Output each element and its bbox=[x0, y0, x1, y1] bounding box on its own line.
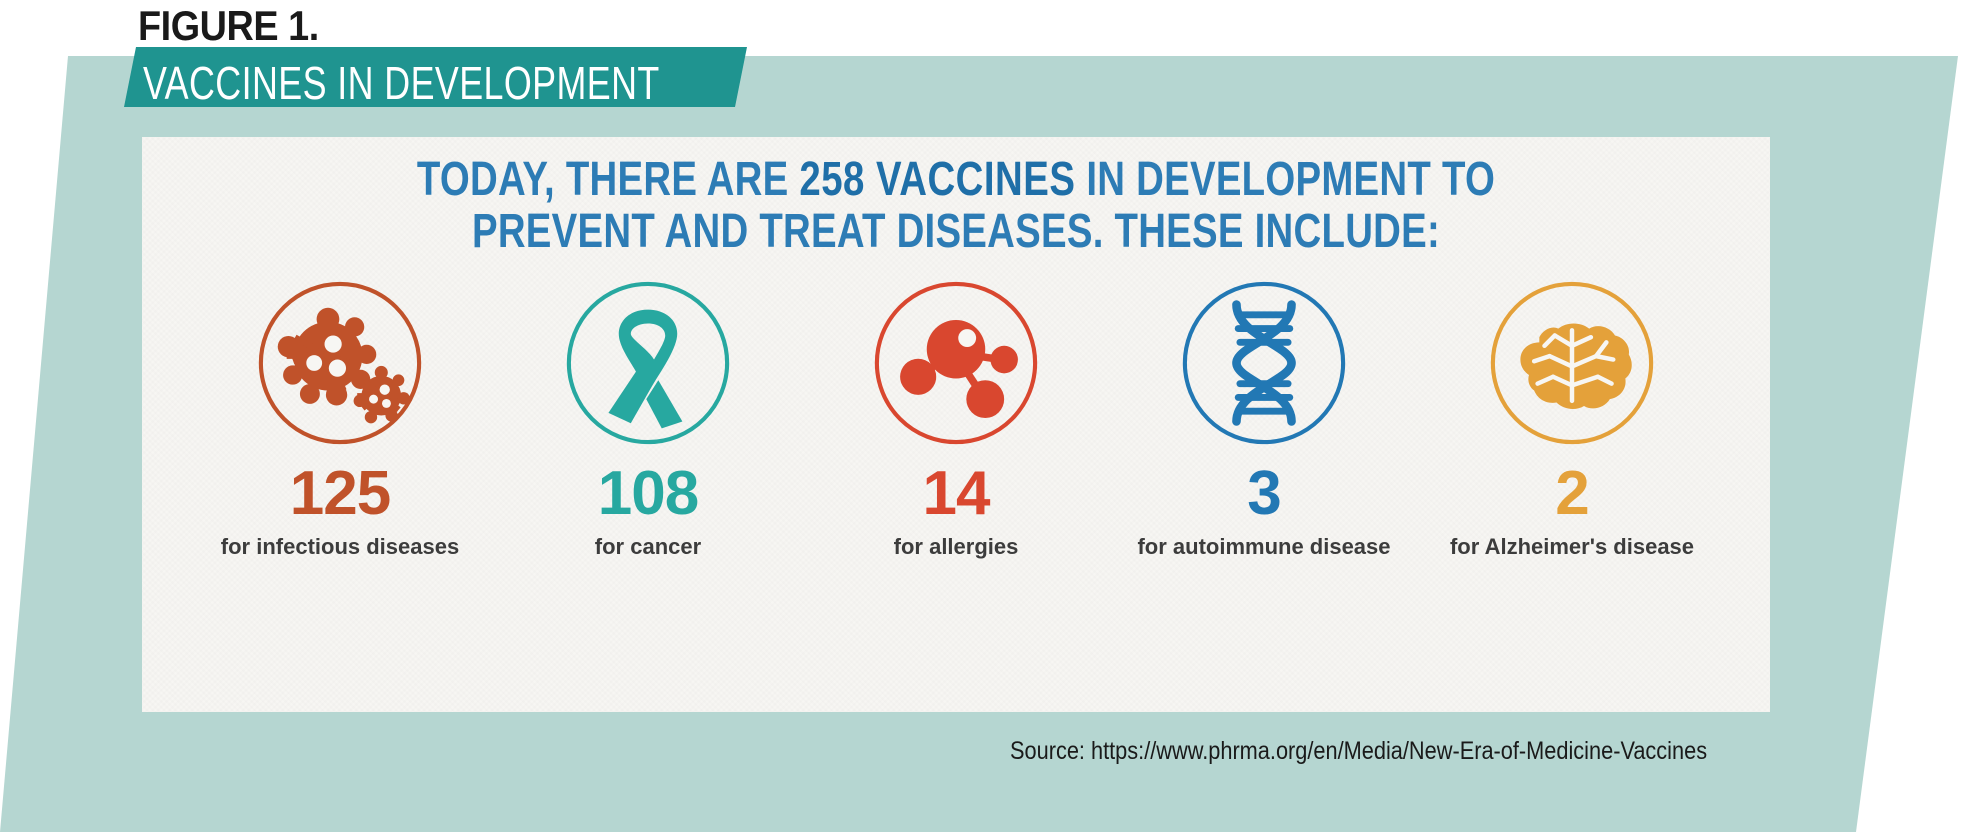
stat-value-alzheimers: 2 bbox=[1555, 463, 1588, 525]
stats-row: 125 for infectious diseases 108 for canc… bbox=[142, 277, 1770, 560]
stat-value-autoimmune: 3 bbox=[1247, 463, 1280, 525]
headline-text-before: TODAY, THERE ARE bbox=[417, 153, 799, 206]
infographic-panel: TODAY, THERE ARE 258 VACCINES IN DEVELOP… bbox=[142, 137, 1770, 712]
stat-item-alzheimers: 2 for Alzheimer's disease bbox=[1418, 277, 1726, 560]
stat-value-cancer: 108 bbox=[598, 463, 698, 525]
figure-title: VACCINES IN DEVELOPMENT bbox=[143, 56, 660, 110]
stat-label-autoimmune: for autoimmune disease bbox=[1137, 534, 1390, 560]
brain-icon bbox=[1486, 277, 1658, 449]
headline-line-2: PREVENT AND TREAT DISEASES. THESE INCLUD… bbox=[305, 206, 1607, 258]
headline: TODAY, THERE ARE 258 VACCINES IN DEVELOP… bbox=[142, 154, 1770, 258]
stat-label-allergies: for allergies bbox=[894, 534, 1019, 560]
stat-label-alzheimers: for Alzheimer's disease bbox=[1450, 534, 1694, 560]
dna-helix-icon bbox=[1178, 277, 1350, 449]
stat-label-cancer: for cancer bbox=[595, 534, 701, 560]
figure-number: FIGURE 1. bbox=[138, 2, 319, 50]
stat-item-allergies: 14 for allergies bbox=[802, 277, 1110, 560]
stat-item-cancer: 108 for cancer bbox=[494, 277, 802, 560]
virus-icon bbox=[254, 277, 426, 449]
stat-value-infectious-diseases: 125 bbox=[290, 463, 390, 525]
stat-item-autoimmune: 3 for autoimmune disease bbox=[1110, 277, 1418, 560]
stat-value-allergies: 14 bbox=[923, 463, 990, 525]
stat-label-infectious-diseases: for infectious diseases bbox=[221, 534, 459, 560]
awareness-ribbon-icon bbox=[562, 277, 734, 449]
headline-line-1: TODAY, THERE ARE 258 VACCINES IN DEVELOP… bbox=[305, 154, 1607, 206]
molecule-icon bbox=[870, 277, 1042, 449]
headline-text-after: IN DEVELOPMENT TO bbox=[1075, 153, 1495, 206]
source-citation: Source: https://www.phrma.org/en/Media/N… bbox=[1010, 737, 1707, 766]
stat-item-infectious-diseases: 125 for infectious diseases bbox=[186, 277, 494, 560]
headline-count-vaccines: 258 VACCINES bbox=[799, 153, 1075, 206]
